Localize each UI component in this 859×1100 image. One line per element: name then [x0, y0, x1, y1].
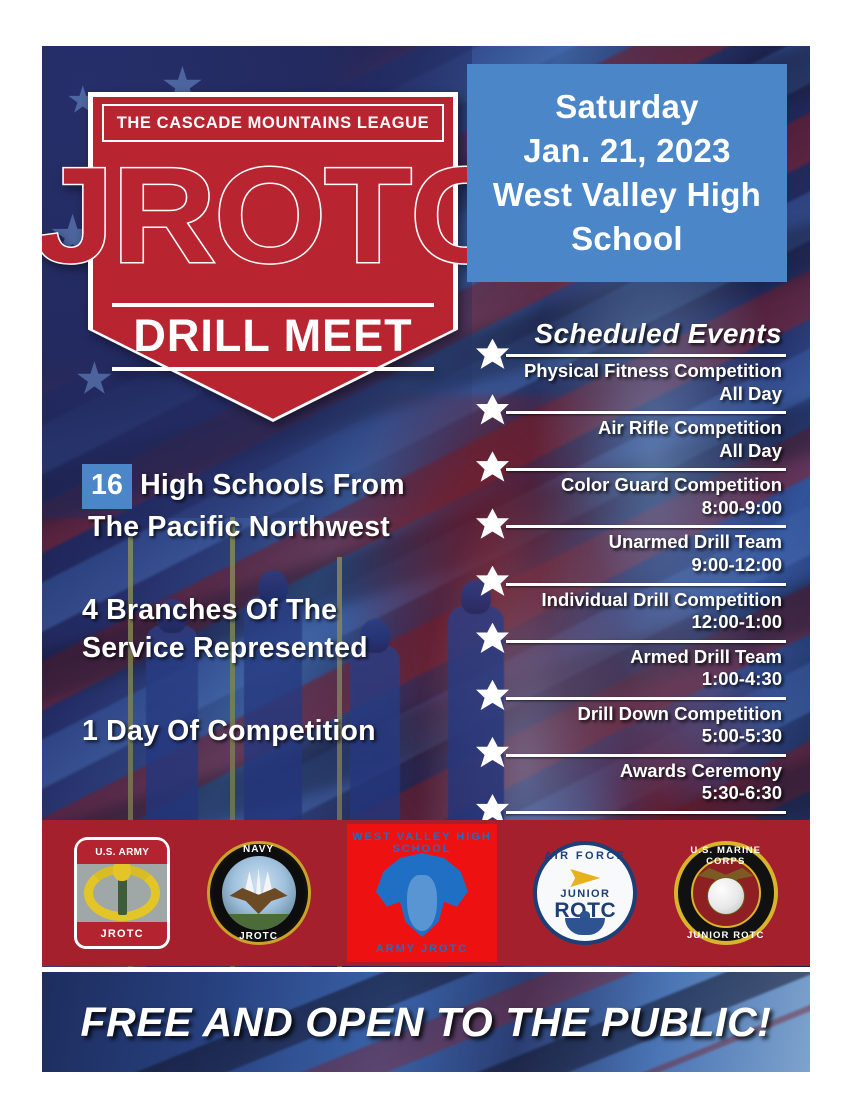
stat-schools: 16High Schools From The Pacific Northwes… [82, 464, 462, 546]
date-location-box: Saturday Jan. 21, 2023 West Valley High … [467, 64, 787, 282]
venue-line2: School [571, 217, 683, 261]
bottom-banner: FREE AND OPEN TO THE PUBLIC! [42, 972, 810, 1072]
marine-corps-jrotc-emblem: U.S. MARINE CORPS JUNIOR ROTC [674, 841, 778, 945]
service-emblem-band: U.S. ARMY JROTC NAVY JROTC West Valley H… [42, 820, 810, 966]
events-heading: Scheduled Events [470, 318, 786, 350]
stat-days-line1: 1 Day Of Competition [82, 713, 462, 751]
event-name: Air Rifle Competition [470, 417, 786, 440]
scheduled-events: Scheduled Events Physical Fitness Compet… [470, 318, 786, 817]
event-name: Armed Drill Team [470, 646, 786, 669]
event-name: Color Guard Competition [470, 474, 786, 497]
navy-jrotc-emblem: NAVY JROTC [207, 841, 311, 945]
event-time: All Day [470, 383, 786, 408]
stat-days: 1 Day Of Competition [82, 713, 462, 751]
stat-branches-line2: Service Represented [82, 630, 462, 668]
event-time: All Day [470, 440, 786, 465]
stat-schools-line1: High Schools From [140, 469, 405, 501]
event-time: 5:30-6:30 [470, 782, 786, 807]
marines-emblem-bottom-text: JUNIOR ROTC [674, 930, 778, 941]
event-item: Air Rifle Competition All Day [470, 417, 786, 471]
banner-text: FREE AND OPEN TO THE PUBLIC! [80, 999, 771, 1046]
event-name: Unarmed Drill Team [470, 531, 786, 554]
poster: THE CASCADE MOUNTAINS LEAGUE JROTC DRILL… [42, 46, 810, 1072]
event-item: Drill Down Competition 5:00-5:30 [470, 703, 786, 757]
navy-emblem-top-text: NAVY [207, 844, 311, 855]
jrotc-wordmark: JROTC [77, 140, 469, 290]
event-time: 12:00-1:00 [470, 611, 786, 636]
schools-count-badge: 16 [82, 464, 132, 509]
ram-logo-bottom-text: Army JROTC [347, 943, 497, 955]
globe-anchor-icon [707, 877, 745, 915]
army-emblem-top-text: U.S. ARMY [95, 847, 149, 858]
ram-logo-top-text: West Valley High School [347, 831, 497, 855]
event-item: Physical Fitness Competition All Day [470, 360, 786, 414]
army-emblem-bottom-text: JROTC [101, 928, 144, 940]
stat-branches: 4 Branches Of The Service Represented [82, 592, 462, 667]
event-item: Unarmed Drill Team 9:00-12:00 [470, 531, 786, 585]
event-item: Color Guard Competition 8:00-9:00 [470, 474, 786, 528]
stats-list: 16High Schools From The Pacific Northwes… [82, 464, 462, 797]
drill-meet-label: DRILL MEET [133, 307, 412, 367]
event-time: 8:00-9:00 [470, 497, 786, 522]
stat-branches-line1: 4 Branches Of The [82, 592, 462, 630]
event-item: Armed Drill Team 1:00-4:30 [470, 646, 786, 700]
date-full: Jan. 21, 2023 [523, 129, 731, 173]
air-force-jrotc-emblem: AIR FORCE JUNIOR ROTC [533, 841, 637, 945]
event-time: 9:00-12:00 [470, 554, 786, 579]
event-item: Awards Ceremony 5:30-6:30 [470, 760, 786, 814]
airforce-emblem-top-text: AIR FORCE [533, 850, 637, 862]
rule-bottom [112, 367, 434, 371]
league-name: THE CASCADE MOUNTAINS LEAGUE [117, 114, 430, 133]
event-name: Awards Ceremony [470, 760, 786, 783]
date-day: Saturday [555, 85, 699, 129]
navy-emblem-bottom-text: JROTC [207, 931, 311, 942]
stat-schools-line2: The Pacific Northwest [82, 509, 462, 547]
event-name: Physical Fitness Competition [470, 360, 786, 383]
events-heading-label: Scheduled Events [534, 318, 782, 349]
marines-emblem-top-text: U.S. MARINE CORPS [674, 845, 778, 867]
drill-meet-block: DRILL MEET [112, 300, 434, 374]
event-item: Individual Drill Competition 12:00-1:00 [470, 589, 786, 643]
event-name: Individual Drill Competition [470, 589, 786, 612]
event-time: 1:00-4:30 [470, 668, 786, 693]
jrotc-badge: THE CASCADE MOUNTAINS LEAGUE JROTC DRILL… [88, 92, 458, 422]
event-time: 5:00-5:30 [470, 725, 786, 750]
west-valley-ram-logo: West Valley High School Army JROTC [347, 824, 497, 962]
event-name: Drill Down Competition [470, 703, 786, 726]
venue-line1: West Valley High [493, 173, 761, 217]
army-jrotc-emblem: U.S. ARMY JROTC [74, 837, 170, 949]
event-divider-0 [470, 354, 786, 357]
